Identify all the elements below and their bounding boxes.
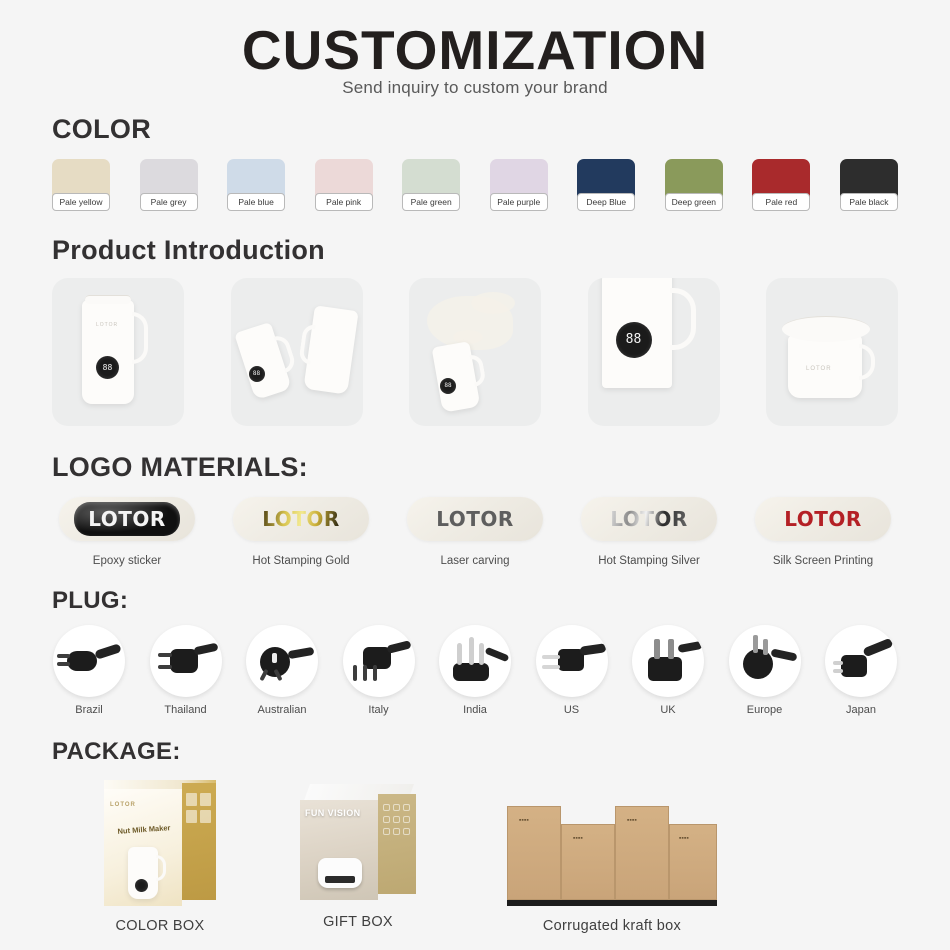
product-image-top-lid[interactable]: LOTOR	[766, 278, 898, 426]
plug-list: BrazilThailandAustralianItalyIndiaUSUKEu…	[50, 625, 900, 716]
logo-material-list: LOTOREpoxy stickerLOTORHot Stamping Gold…	[52, 497, 898, 567]
logo-pill: LOTOR	[581, 497, 717, 541]
package-caption: COLOR BOX	[104, 918, 216, 934]
plug-label: Australian	[243, 704, 321, 716]
package-kraft-box[interactable]: ■■■■ ■■■■ ■■■■ ■■■■ Corrugated kraft box	[507, 788, 717, 934]
logo-mark: LOTOR	[610, 507, 688, 531]
logo-caption: Epoxy sticker	[52, 555, 202, 567]
color-swatch[interactable]: Pale purple	[490, 159, 548, 211]
logo-caption: Laser carving	[400, 555, 550, 567]
plug-item[interactable]: UK	[629, 625, 707, 716]
package-color-box[interactable]: LOTOR Nut Milk Maker COLOR BOX	[104, 780, 216, 934]
kraft-box-graphic: ■■■■ ■■■■ ■■■■ ■■■■	[507, 788, 717, 906]
plug-item[interactable]: Italy	[340, 625, 418, 716]
plug-label: Europe	[726, 704, 804, 716]
color-swatch[interactable]: Pale green	[402, 159, 460, 211]
product-display: 88	[96, 356, 119, 379]
logo-caption: Silk Screen Printing	[748, 555, 898, 567]
product-display: 88	[440, 378, 456, 394]
color-label: Pale red	[752, 193, 810, 211]
plug-australian-icon	[246, 625, 318, 697]
product-display: 88	[616, 322, 652, 358]
plug-item[interactable]: Australian	[243, 625, 321, 716]
color-label: Deep Blue	[577, 193, 635, 211]
plug-item[interactable]: Europe	[726, 625, 804, 716]
color-box-graphic: LOTOR Nut Milk Maker	[104, 780, 216, 906]
plug-item[interactable]: Thailand	[147, 625, 225, 716]
product-image-display-closeup[interactable]: 88	[588, 278, 720, 426]
customization-page: CUSTOMIZATION Send inquiry to custom you…	[0, 0, 950, 950]
logo-material-item[interactable]: LOTORHot Stamping Silver	[574, 497, 724, 567]
plug-label: India	[436, 704, 514, 716]
color-label: Pale black	[840, 193, 898, 211]
product-image-front[interactable]: LOTOR 88	[52, 278, 184, 426]
plug-label: UK	[629, 704, 707, 716]
color-label: Pale purple	[490, 193, 548, 211]
logo-caption: Hot Stamping Gold	[226, 555, 376, 567]
logo-material-item[interactable]: LOTORSilk Screen Printing	[748, 497, 898, 567]
color-swatch[interactable]: Pale blue	[227, 159, 285, 211]
plug-india-icon	[439, 625, 511, 697]
color-swatch[interactable]: Pale grey	[140, 159, 198, 211]
plug-section-title: PLUG:	[52, 587, 950, 615]
logo-material-item[interactable]: LOTORHot Stamping Gold	[226, 497, 376, 567]
plug-uk-icon	[632, 625, 704, 697]
color-box-brand: LOTOR	[110, 802, 136, 808]
product-section-title: Product Introduction	[52, 235, 950, 266]
package-section-title: PACKAGE:	[52, 738, 950, 766]
logo-material-item[interactable]: LOTOREpoxy sticker	[52, 497, 202, 567]
color-label: Deep green	[665, 193, 723, 211]
plug-item[interactable]: Japan	[822, 625, 900, 716]
plug-brazil-icon	[53, 625, 125, 697]
plug-item[interactable]: Brazil	[50, 625, 128, 716]
product-display: 88	[249, 366, 265, 382]
logo-mark: LOTOR	[74, 502, 180, 536]
color-label: Pale green	[402, 193, 460, 211]
product-brand-label: LOTOR	[96, 322, 118, 328]
logo-mark: LOTOR	[784, 507, 862, 531]
color-label: Pale yellow	[52, 193, 110, 211]
color-swatch[interactable]: Deep Blue	[577, 159, 635, 211]
plug-japan-icon	[825, 625, 897, 697]
color-swatch[interactable]: Deep green	[665, 159, 723, 211]
color-box-title: Nut Milk Maker	[111, 822, 177, 836]
package-caption: Corrugated kraft box	[507, 918, 717, 934]
color-swatch-list: Pale yellowPale greyPale bluePale pinkPa…	[52, 159, 898, 211]
package-gift-box[interactable]: FUN VISION GIFT BOX	[300, 784, 416, 930]
plug-item[interactable]: India	[436, 625, 514, 716]
plug-label: Thailand	[147, 704, 225, 716]
package-caption: GIFT BOX	[300, 914, 416, 930]
gift-box-title: FUN VISION	[305, 808, 361, 818]
color-label: Pale blue	[227, 193, 285, 211]
logo-pill: LOTOR	[233, 497, 369, 541]
color-swatch[interactable]: Pale pink	[315, 159, 373, 211]
product-image-splash[interactable]: 88	[409, 278, 541, 426]
color-swatch[interactable]: Pale yellow	[52, 159, 110, 211]
page-subtitle: Send inquiry to custom your brand	[0, 78, 950, 98]
plug-italy-icon	[343, 625, 415, 697]
color-label: Pale pink	[315, 193, 373, 211]
product-brand-label: LOTOR	[806, 366, 832, 372]
plug-europe-icon	[729, 625, 801, 697]
plug-label: Italy	[340, 704, 418, 716]
logo-mark: LOTOR	[436, 507, 514, 531]
gift-box-graphic: FUN VISION	[300, 784, 416, 902]
logo-caption: Hot Stamping Silver	[574, 555, 724, 567]
page-title: CUSTOMIZATION	[0, 22, 950, 80]
plug-label: Brazil	[50, 704, 128, 716]
color-swatch[interactable]: Pale black	[840, 159, 898, 211]
plug-item[interactable]: US	[533, 625, 611, 716]
page-header: CUSTOMIZATION Send inquiry to custom you…	[0, 0, 950, 98]
logo-mark: LOTOR	[262, 507, 340, 531]
plug-label: US	[533, 704, 611, 716]
product-image-two-angle[interactable]: 88	[231, 278, 363, 426]
logo-pill: LOTOR	[407, 497, 543, 541]
logo-pill: LOTOR	[755, 497, 891, 541]
logo-material-item[interactable]: LOTORLaser carving	[400, 497, 550, 567]
logo-section-title: LOGO MATERIALS:	[52, 452, 950, 483]
color-label: Pale grey	[140, 193, 198, 211]
plug-label: Japan	[822, 704, 900, 716]
color-swatch[interactable]: Pale red	[752, 159, 810, 211]
package-list: LOTOR Nut Milk Maker COLOR BOX	[52, 780, 898, 950]
product-image-list: LOTOR 88 88 88 88 LOTOR	[52, 278, 898, 426]
plug-us-icon	[536, 625, 608, 697]
logo-pill: LOTOR	[59, 497, 195, 541]
color-section-title: COLOR	[52, 114, 950, 145]
plug-thailand-icon	[150, 625, 222, 697]
